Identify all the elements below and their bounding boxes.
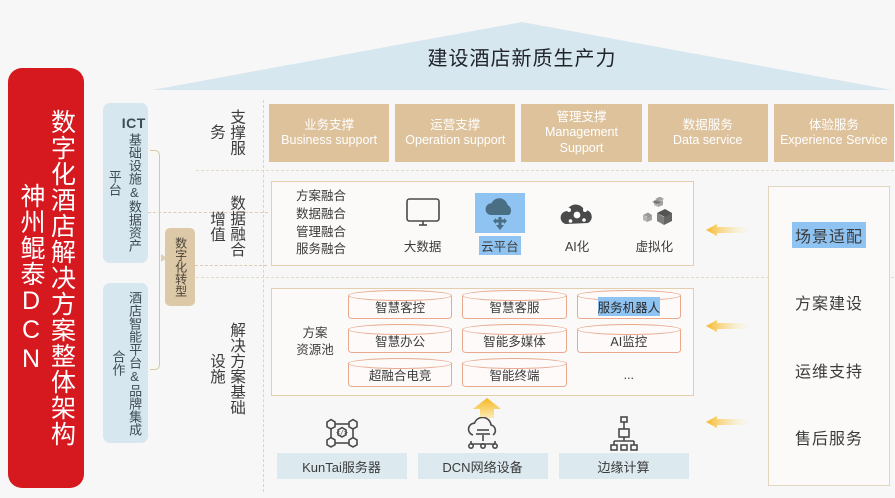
support-card-3[interactable]: 管理支撑Management Support — [521, 104, 641, 162]
monitor-icon — [405, 193, 441, 233]
support-card-en: Experience Service — [780, 133, 888, 148]
right-service-item[interactable]: 运维支持 — [792, 357, 866, 383]
right-services-panel: 场景适配方案建设运维支持售后服务 — [768, 186, 890, 486]
solution-pool-panel: 方案资源池 智慧客控智慧客服服务机器人智慧办公智能多媒体AI监控超融合电竞智能终… — [271, 288, 694, 396]
infra-item[interactable]: DCN网络设备 — [418, 415, 548, 479]
support-card-zh: 业务支撑 — [304, 118, 354, 133]
support-card-en: Data service — [673, 133, 742, 148]
right-service-item[interactable]: 售后服务 — [792, 424, 866, 450]
pool-item-more[interactable]: ... — [577, 362, 681, 387]
fusion-text-line: 服务融合 — [296, 241, 384, 259]
fusion-item-cloud-sync[interactable]: 云平台 — [465, 193, 535, 255]
left-arrow-icon-2 — [706, 318, 748, 334]
vertical-divider — [263, 100, 264, 492]
support-services-row: 业务支撑Business support运营支撑Operation suppor… — [269, 104, 894, 162]
fusion-text-line: 数据融合 — [296, 206, 384, 224]
support-card-zh: 数据服务 — [683, 118, 733, 133]
pool-item[interactable]: 智能多媒体 — [462, 328, 566, 353]
support-card-5[interactable]: 体验服务Experience Service — [774, 104, 894, 162]
cubes-icon — [635, 193, 673, 233]
pool-item-label: 智慧客控 — [375, 297, 425, 316]
roof-title: 建设酒店新质生产力 — [152, 42, 892, 71]
row-label-support: 支撑服务 — [196, 104, 256, 160]
pool-item[interactable]: 超融合电竞 — [348, 362, 452, 387]
support-card-en: Operation support — [405, 133, 505, 148]
pool-item[interactable]: 智慧客服 — [462, 294, 566, 319]
pool-item-label: 服务机器人 — [598, 297, 661, 316]
server-mesh-icon: </> — [321, 415, 363, 453]
cloud-sync-icon — [475, 193, 525, 233]
svg-text:</>: </> — [336, 429, 348, 437]
fusion-item-ai-cloud[interactable]: AI化 — [542, 193, 612, 255]
edge-compute-icon — [608, 415, 640, 453]
ai-cloud-icon — [558, 193, 596, 233]
infra-item-label: KunTai服务器 — [277, 453, 407, 479]
row-label-solution: 解决方案基础设施 — [196, 320, 256, 416]
digital-transformation-box[interactable]: 数字化转型 — [165, 228, 195, 306]
pool-item-label: ... — [624, 368, 634, 382]
support-card-4[interactable]: 数据服务Data service — [648, 104, 768, 162]
pool-item-label: 智慧办公 — [375, 331, 425, 350]
fusion-item-cubes[interactable]: 虚拟化 — [619, 193, 689, 255]
pool-item[interactable]: AI监控 — [577, 328, 681, 353]
support-card-en: Business support — [281, 133, 377, 148]
data-fusion-panel: 方案融合数据融合管理融合服务融合 大数据云平台AI化虚拟化 — [271, 181, 694, 266]
bracket-connector — [150, 150, 160, 370]
row-label-fusion: 数据融合增值 — [196, 190, 256, 262]
infra-item-label: DCN网络设备 — [418, 453, 548, 479]
network-cloud-icon — [461, 415, 505, 453]
horizontal-divider-1 — [196, 170, 894, 171]
support-card-zh: 管理支撑 — [557, 110, 607, 125]
hotel-platform-label: 酒店智能平台&品牌集成合作 — [109, 289, 142, 437]
infrastructure-row: </>KunTai服务器DCN网络设备边缘计算 — [271, 415, 694, 487]
fusion-text-line: 方案融合 — [296, 188, 384, 206]
pool-item-label: 智能多媒体 — [483, 331, 546, 350]
pool-grid: 智慧客控智慧客服服务机器人智慧办公智能多媒体AI监控超融合电竞智能终端... — [348, 294, 693, 390]
fusion-item-monitor[interactable]: 大数据 — [388, 193, 458, 255]
pool-item-label: 超融合电竞 — [369, 365, 432, 384]
fusion-items-row: 大数据云平台AI化虚拟化 — [384, 182, 693, 265]
fusion-item-label: AI化 — [563, 236, 591, 255]
pool-label: 方案资源池 — [272, 325, 348, 360]
support-card-en: Management Support — [523, 125, 639, 156]
infra-item[interactable]: </>KunTai服务器 — [277, 415, 407, 479]
transform-connector-line — [195, 265, 267, 266]
title-banner: 数字化酒店解决方案整体架构神州鲲泰DCN — [8, 68, 84, 488]
pool-item-label: 智能终端 — [489, 365, 539, 384]
pool-item[interactable]: 智慧办公 — [348, 328, 452, 353]
support-card-1[interactable]: 业务支撑Business support — [269, 104, 389, 162]
infra-item[interactable]: 边缘计算 — [559, 415, 689, 479]
architecture-diagram: 数字化酒店解决方案整体架构神州鲲泰DCN 建设酒店新质生产力 ICT基础设施&数… — [0, 0, 895, 498]
pool-item[interactable]: 智能终端 — [462, 362, 566, 387]
support-card-zh: 运营支撑 — [430, 118, 480, 133]
ict-platform-label: ICT基础设施&数据资产平台 — [105, 109, 146, 257]
support-card-2[interactable]: 运营支撑Operation support — [395, 104, 515, 162]
fusion-text-list: 方案融合数据融合管理融合服务融合 — [272, 188, 384, 259]
fusion-item-label: 云平台 — [479, 236, 521, 255]
digital-transformation-label: 数字化转型 — [172, 237, 187, 297]
right-service-item[interactable]: 场景适配 — [792, 222, 866, 248]
support-card-zh: 体验服务 — [809, 118, 859, 133]
right-service-item[interactable]: 方案建设 — [792, 289, 866, 315]
ict-platform-box[interactable]: ICT基础设施&数据资产平台 — [103, 103, 148, 263]
infra-item-label: 边缘计算 — [559, 453, 689, 479]
banner-title: 数字化酒店解决方案整体架构神州鲲泰DCN — [16, 109, 77, 447]
pool-item-label: AI监控 — [610, 331, 647, 350]
left-arrow-icon-1 — [706, 222, 748, 238]
fusion-text-line: 管理融合 — [296, 224, 384, 242]
hotel-platform-box[interactable]: 酒店智能平台&品牌集成合作 — [103, 283, 148, 443]
left-arrow-icon-3 — [706, 414, 748, 430]
pool-item-label: 智慧客服 — [489, 297, 539, 316]
pool-item[interactable]: 服务机器人 — [577, 294, 681, 319]
fusion-item-label: 虚拟化 — [634, 236, 676, 255]
fusion-item-label: 大数据 — [402, 236, 444, 255]
pool-item[interactable]: 智慧客控 — [348, 294, 452, 319]
